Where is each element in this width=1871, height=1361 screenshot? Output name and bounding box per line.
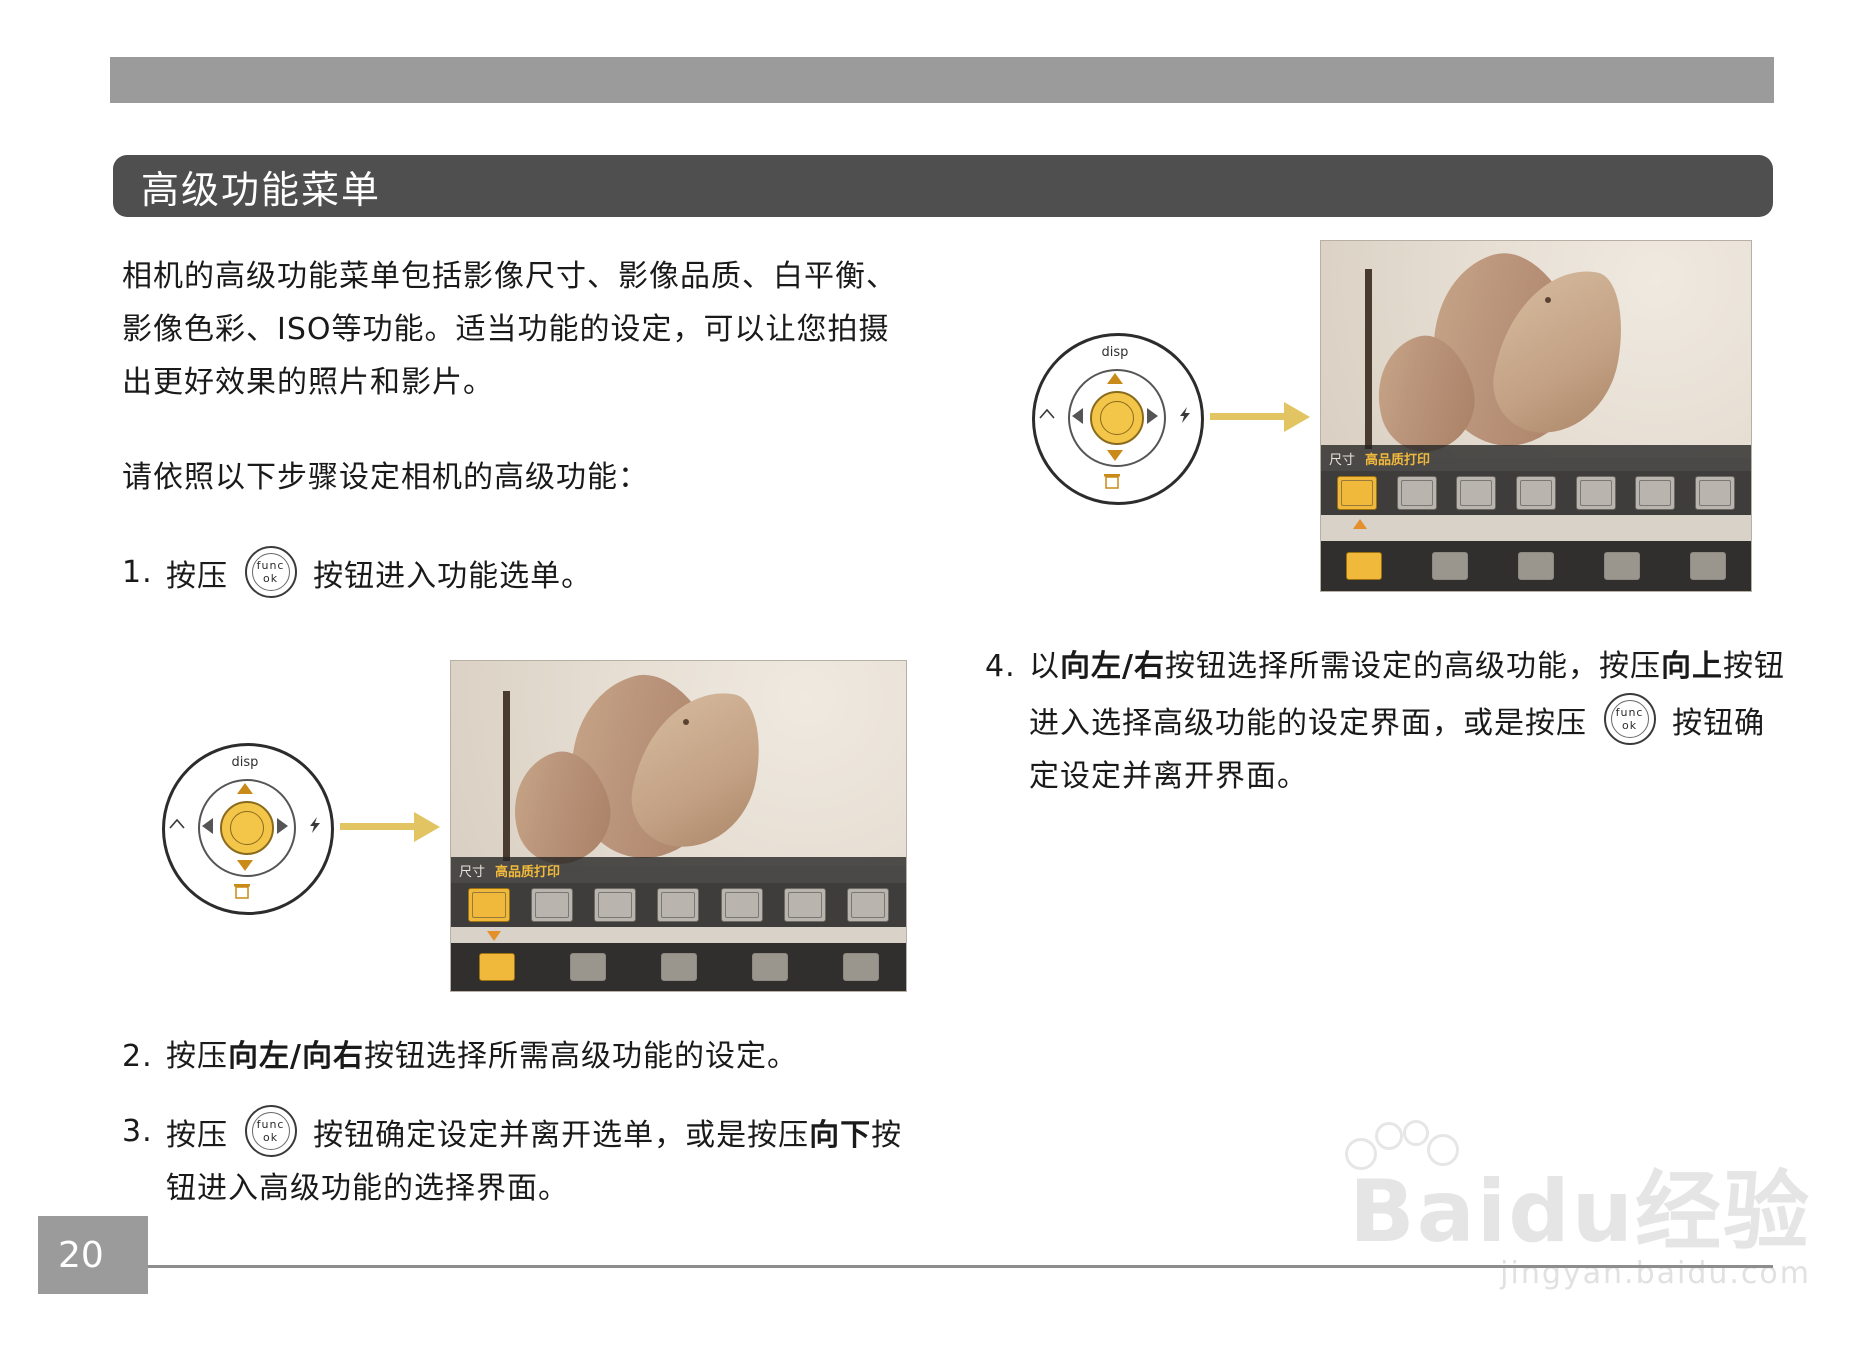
up-caret-icon xyxy=(1353,519,1367,529)
trash-icon xyxy=(1020,473,1210,489)
down-caret-icon xyxy=(487,931,501,941)
menu-tab-row[interactable] xyxy=(1321,541,1751,591)
watermark-line-1: Baidu经验 xyxy=(1349,1168,1811,1256)
menu-tab-0[interactable] xyxy=(1346,552,1382,580)
footer-rule xyxy=(113,1265,1773,1268)
photo-stem xyxy=(1365,269,1372,449)
function-icon-4[interactable] xyxy=(721,888,763,922)
step-4-bold-1: 向左/右 xyxy=(1060,649,1165,684)
dial-func-ok-center-icon xyxy=(1090,391,1144,445)
dial-down-arrow-icon xyxy=(237,860,253,871)
flash-icon xyxy=(308,817,322,833)
info-value: 高品质打印 xyxy=(495,861,560,880)
macro-icon xyxy=(168,817,186,831)
page-number-box: 20 xyxy=(38,1216,148,1294)
arrow-head xyxy=(1284,402,1310,432)
step-1: 1. 按压 func ok 按钮进入功能选单。 xyxy=(122,546,912,603)
screen-info-bar: 尺寸 高品质打印 xyxy=(451,857,906,883)
function-icon-6[interactable] xyxy=(847,888,889,922)
macro-icon xyxy=(1038,407,1056,421)
dial-right-arrow-icon xyxy=(1147,408,1158,424)
menu-tab-4[interactable] xyxy=(1690,552,1726,580)
info-label: 尺寸 xyxy=(459,861,485,880)
disp-label: disp xyxy=(150,755,340,770)
function-icon-1[interactable] xyxy=(1397,476,1437,510)
dial-right-arrow-icon xyxy=(277,818,288,834)
step-4-bold-2: 向上 xyxy=(1661,649,1723,684)
watermark: Baidu经验 jingyan.baidu.com xyxy=(1349,1168,1811,1291)
dial-up-arrow-icon xyxy=(237,783,253,794)
step-1-number: 1. xyxy=(122,546,166,599)
step-3-number: 3. xyxy=(122,1105,166,1158)
step-2-body: 按压向左/向右按钮选择所需高级功能的设定。 xyxy=(166,1030,922,1083)
menu-tab-3[interactable] xyxy=(752,953,788,981)
header-grey-bar xyxy=(110,57,1774,103)
dial-down-arrow-icon xyxy=(1107,450,1123,461)
func-ok-label-line1: func xyxy=(1606,707,1654,718)
spacer xyxy=(122,409,912,451)
menu-tab-3[interactable] xyxy=(1604,552,1640,580)
dial-left-arrow-icon xyxy=(202,818,213,834)
step-1-text-pre: 按压 xyxy=(166,559,228,594)
step-4-number: 4. xyxy=(985,640,1029,693)
preview-photo xyxy=(451,661,906,866)
function-icon-2[interactable] xyxy=(594,888,636,922)
step-3-body: 按压 func ok 按钮确定设定并离开选单，或是按压向下按钮进入高级功能的选择… xyxy=(166,1105,922,1215)
menu-tab-0[interactable] xyxy=(479,953,515,981)
func-ok-button-icon: func ok xyxy=(245,546,297,598)
step-2-text-1: 按压 xyxy=(166,1039,228,1074)
flow-arrow-1 xyxy=(340,806,450,846)
flash-icon xyxy=(1178,407,1192,423)
step-4-text-2: 按钮选择所需设定的高级功能，按压 xyxy=(1165,649,1661,684)
step-2-bold-1: 向左/向右 xyxy=(228,1039,364,1074)
step-3: 3. 按压 func ok 按钮确定设定并离开选单，或是按压向下按钮进入高级功能… xyxy=(122,1105,922,1215)
step-2: 2. 按压向左/向右按钮选择所需高级功能的设定。 xyxy=(122,1030,922,1083)
func-ok-label-line1: func xyxy=(247,560,295,571)
func-ok-label-line2: ok xyxy=(247,1132,295,1143)
arrow-shaft xyxy=(1210,413,1288,420)
function-icon-5[interactable] xyxy=(1635,476,1675,510)
func-ok-label-line2: ok xyxy=(247,573,295,584)
dial-up-arrow-icon xyxy=(1107,373,1123,384)
left-column-steps-lower: 2. 按压向左/向右按钮选择所需高级功能的设定。 3. 按压 func ok 按… xyxy=(122,1030,922,1215)
spacer xyxy=(122,1083,922,1105)
arrow-head xyxy=(414,812,440,842)
function-icon-0[interactable] xyxy=(1337,476,1377,510)
menu-tab-row[interactable] xyxy=(451,943,906,991)
left-column: 相机的高级功能菜单包括影像尺寸、影像品质、白平衡、影像色彩、ISO等功能。适当功… xyxy=(122,250,912,603)
photo-dot xyxy=(683,719,689,725)
info-value: 高品质打印 xyxy=(1365,449,1430,468)
function-icon-1[interactable] xyxy=(531,888,573,922)
func-ok-label-line1: func xyxy=(247,1119,295,1130)
arrow-shaft xyxy=(340,823,418,830)
menu-tab-1[interactable] xyxy=(1432,552,1468,580)
menu-tab-2[interactable] xyxy=(661,953,697,981)
photo-stem xyxy=(503,691,510,861)
page-title: 高级功能菜单 xyxy=(141,159,381,214)
figure-2: disp 尺寸 高品质打 xyxy=(1020,240,1752,592)
step-4-body: 以向左/右按钮选择所需设定的高级功能，按压向上按钮进入选择高级功能的设定界面，或… xyxy=(1029,640,1785,803)
photo-dot xyxy=(1545,297,1551,303)
screen-info-bar: 尺寸 高品质打印 xyxy=(1321,445,1751,471)
trash-icon xyxy=(150,883,340,899)
function-icon-3[interactable] xyxy=(1516,476,1556,510)
step-2-number: 2. xyxy=(122,1030,166,1083)
function-icon-0[interactable] xyxy=(468,888,510,922)
function-icon-3[interactable] xyxy=(657,888,699,922)
camera-dial-illustration-1: disp xyxy=(150,731,340,921)
page-number: 20 xyxy=(58,1235,104,1276)
step-4: 4. 以向左/右按钮选择所需设定的高级功能，按压向上按钮进入选择高级功能的设定界… xyxy=(985,640,1785,803)
figure-1: disp 尺寸 高品质打 xyxy=(150,660,907,992)
step-4-text-1: 以 xyxy=(1029,649,1060,684)
step-3-text-pre: 按压 xyxy=(166,1118,228,1153)
camera-screen-2: 尺寸 高品质打印 xyxy=(1320,240,1752,592)
dial-func-ok-center-icon xyxy=(220,801,274,855)
func-ok-label-line2: ok xyxy=(1606,720,1654,731)
preview-photo xyxy=(1321,241,1751,458)
function-icon-5[interactable] xyxy=(784,888,826,922)
func-ok-button-icon: func ok xyxy=(245,1105,297,1157)
step-1-text-post: 按钮进入功能选单。 xyxy=(313,559,592,594)
menu-tab-1[interactable] xyxy=(570,953,606,981)
function-icon-2[interactable] xyxy=(1456,476,1496,510)
function-icon-row[interactable] xyxy=(451,883,906,927)
step-1-body: 按压 func ok 按钮进入功能选单。 xyxy=(166,546,912,603)
menu-tab-4[interactable] xyxy=(843,953,879,981)
lead-in-text: 请依照以下步骤设定相机的高级功能： xyxy=(122,451,912,504)
right-column-steps: 4. 以向左/右按钮选择所需设定的高级功能，按压向上按钮进入选择高级功能的设定界… xyxy=(985,640,1785,803)
disp-label: disp xyxy=(1020,345,1210,360)
info-label: 尺寸 xyxy=(1329,449,1355,468)
page-title-banner: 高级功能菜单 xyxy=(113,155,1773,217)
function-icon-6[interactable] xyxy=(1695,476,1735,510)
camera-dial-illustration-2: disp xyxy=(1020,321,1210,511)
function-icon-row[interactable] xyxy=(1321,471,1751,515)
func-ok-button-icon: func ok xyxy=(1604,693,1656,745)
step-3-bold: 向下 xyxy=(809,1118,871,1153)
function-icon-4[interactable] xyxy=(1576,476,1616,510)
step-2-text-2: 按钮选择所需高级功能的设定。 xyxy=(364,1039,798,1074)
watermark-line-2: jingyan.baidu.com xyxy=(1349,1256,1811,1291)
menu-tab-2[interactable] xyxy=(1518,552,1554,580)
spacer xyxy=(122,504,912,546)
intro-paragraph: 相机的高级功能菜单包括影像尺寸、影像品质、白平衡、影像色彩、ISO等功能。适当功… xyxy=(122,250,912,409)
flow-arrow-2 xyxy=(1210,396,1320,436)
baidu-paw-icon xyxy=(1339,1120,1459,1190)
dial-left-arrow-icon xyxy=(1072,408,1083,424)
step-3-text-mid: 按钮确定设定并离开选单，或是按压 xyxy=(313,1118,809,1153)
camera-screen-1: 尺寸 高品质打印 xyxy=(450,660,907,992)
